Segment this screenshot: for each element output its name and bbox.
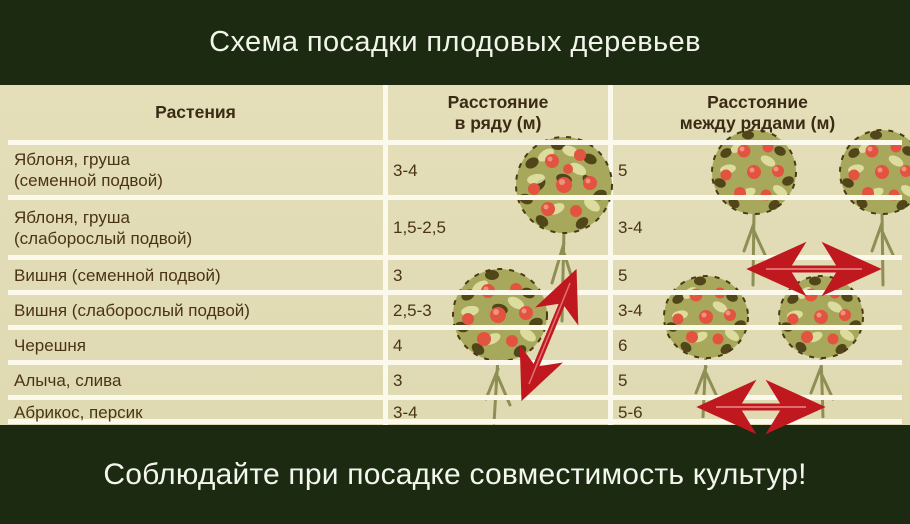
plant-name-line2: (слаборослый подвой) [14, 228, 379, 249]
table-row: Яблоня, груша (семенной подвой) [14, 145, 379, 195]
table-row: Вишня (слаборослый подвой) [14, 295, 379, 325]
plant-name-line1: Яблоня, груша [14, 207, 379, 228]
planting-scheme-infographic: Схема посадки плодовых деревьев [0, 0, 910, 524]
plant-name-line2: (семенной подвой) [14, 170, 379, 191]
table-row: Вишня (семенной подвой) [14, 260, 379, 290]
spacing-arrow-diagonal-in-row [508, 263, 588, 408]
between-rows-distance-value: 6 [618, 330, 898, 360]
column-header-between-rows-line1: Расстояние [707, 92, 808, 113]
in-row-distance-value: 3-4 [393, 145, 598, 195]
plant-name-line1: Яблоня, груша [14, 149, 379, 170]
between-rows-distance-value: 5 [618, 365, 898, 395]
in-row-distance-value: 1,5-2,5 [393, 200, 598, 255]
plant-name-line1: Черешня [14, 335, 379, 356]
plant-name-line1: Абрикос, персик [14, 402, 379, 423]
column-header-plants: Растения [8, 85, 383, 140]
plant-name-line1: Алыча, слива [14, 370, 379, 391]
column-header-in-row-line1: Расстояние [448, 92, 549, 113]
column-header-plants-line1: Растения [155, 102, 236, 123]
plant-name-line1: Вишня (слаборослый подвой) [14, 300, 379, 321]
column-header-in-row-line2: в ряду (м) [455, 113, 542, 134]
between-rows-distance-value: 3-4 [618, 200, 898, 255]
column-header-in-row: Расстояние в ряду (м) [388, 85, 608, 140]
title-banner: Схема посадки плодовых деревьев [0, 0, 910, 85]
spacing-arrow-between-rows-upper [742, 257, 888, 281]
between-rows-distance-value: 5 [618, 145, 898, 195]
column-header-between-rows-line2: между рядами (м) [680, 113, 835, 134]
table-row: Абрикос, персик [14, 400, 379, 424]
table-inner: Растения Расстояние в ряду (м) Расстояни… [0, 85, 910, 425]
planting-distance-table: Растения Расстояние в ряду (м) Расстояни… [0, 85, 910, 425]
table-row: Яблоня, груша (слаборослый подвой) [14, 200, 379, 255]
table-row: Черешня [14, 330, 379, 360]
column-header-between-rows: Расстояние между рядами (м) [613, 85, 902, 140]
spacing-arrow-between-rows-lower [692, 395, 832, 419]
page-title: Схема посадки плодовых деревьев [209, 26, 701, 59]
footer-banner: Соблюдайте при посадке совместимость кул… [0, 425, 910, 524]
table-row: Алыча, слива [14, 365, 379, 395]
footer-message: Соблюдайте при посадке совместимость кул… [103, 458, 806, 492]
plant-name-line1: Вишня (семенной подвой) [14, 265, 379, 286]
between-rows-distance-value: 3-4 [618, 295, 898, 325]
